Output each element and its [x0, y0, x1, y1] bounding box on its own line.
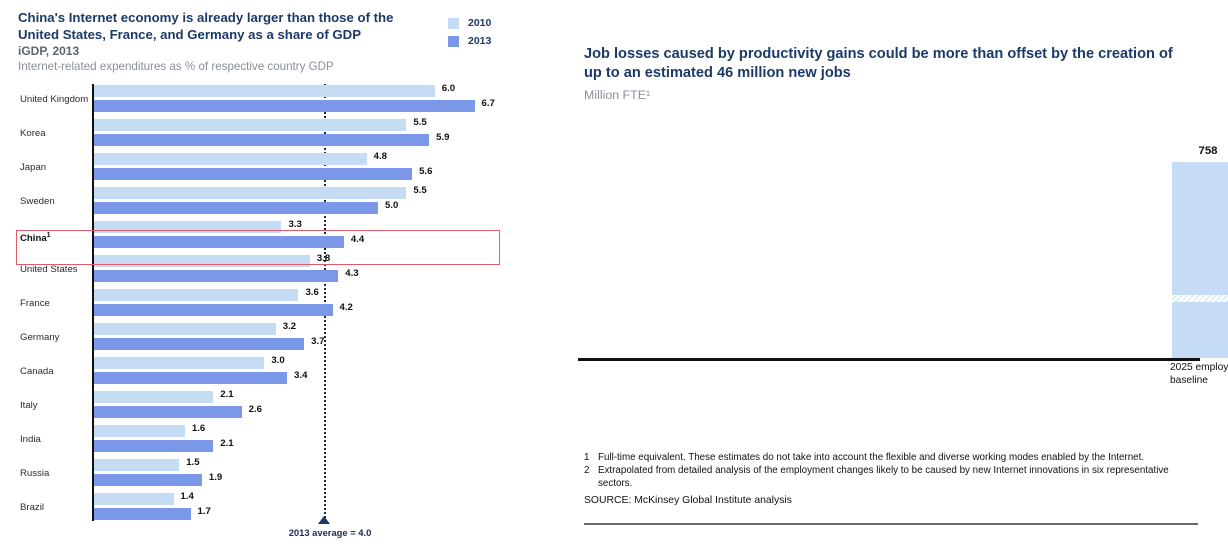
bar-value-label: 5.0 — [385, 200, 398, 211]
legend-label-2010: 2010 — [468, 17, 491, 29]
bar-row-label: United States — [20, 264, 90, 276]
bar-2013 — [94, 168, 412, 180]
bar-value-label: 2.1 — [220, 438, 233, 449]
left-bar-chart-plot: 2013 average = 4.0 United Kingdom6.06.7K… — [0, 84, 540, 524]
bar-2013 — [94, 236, 344, 248]
waterfall-category-label: 2025 employment baseline — [1170, 362, 1228, 387]
bar-2010 — [94, 85, 435, 97]
bar-row: France3.64.2 — [0, 288, 540, 322]
bar-row: India1.62.1 — [0, 424, 540, 458]
legend-item-2010: 2010 — [448, 14, 528, 32]
axis-break-icon — [1172, 295, 1228, 302]
bar-2010 — [94, 221, 281, 233]
bar-value-label: 5.6 — [419, 166, 432, 177]
legend-swatch-2013 — [448, 36, 459, 47]
bar-value-label: 3.4 — [294, 370, 307, 381]
legend-label-2013: 2013 — [468, 35, 491, 47]
bar-2013 — [94, 202, 378, 214]
bar-value-label: 5.5 — [413, 117, 426, 128]
bar-2013 — [94, 406, 242, 418]
bar-2010 — [94, 459, 179, 471]
bar-row-label: France — [20, 298, 90, 310]
bar-row: Japan4.85.6 — [0, 152, 540, 186]
footnote-1: 1 Full-time equivalent. These estimates … — [584, 452, 1198, 464]
bar-2013 — [94, 440, 213, 452]
bar-row: Russia1.51.9 — [0, 458, 540, 492]
bar-row-label: Brazil — [20, 502, 90, 514]
bar-2010 — [94, 391, 213, 403]
bar-value-label: 3.8 — [317, 253, 330, 264]
bar-row: United States3.84.3 — [0, 254, 540, 288]
bar-2013 — [94, 100, 475, 112]
bar-2010 — [94, 119, 406, 131]
bar-value-label: 3.0 — [271, 355, 284, 366]
waterfall-category-labels: 2025 employment baselinePotential job lo… — [570, 362, 1228, 442]
bar-value-label: 2.1 — [220, 389, 233, 400]
bar-2010 — [94, 153, 367, 165]
footnote-2-number: 2 — [584, 465, 589, 477]
bar-2010 — [94, 289, 298, 301]
bar-value-label: 3.2 — [283, 321, 296, 332]
left-chart-axis-caption: Internet-related expenditures as % of re… — [18, 60, 334, 73]
bar-row-label: Korea — [20, 128, 90, 140]
bar-row: Canada3.03.4 — [0, 356, 540, 390]
slide-page: China's Internet economy is already larg… — [0, 0, 1228, 550]
bar-row: United Kingdom6.06.7 — [0, 84, 540, 118]
bar-row: Sweden5.55.0 — [0, 186, 540, 220]
right-chart-panel: Job losses caused by productivity gains … — [570, 0, 1228, 550]
bar-value-label: 1.6 — [192, 423, 205, 434]
bar-2010 — [94, 493, 174, 505]
footnote-1-text: Full-time equivalent. These estimates do… — [598, 452, 1144, 463]
waterfall-baseline-axis — [578, 358, 1200, 361]
bar-2013 — [94, 338, 304, 350]
bar-row-label: China1 — [20, 230, 90, 245]
bar-row-label: Japan — [20, 162, 90, 174]
bar-value-label: 5.5 — [413, 185, 426, 196]
bar-value-label: 1.9 — [209, 472, 222, 483]
bar-2010 — [94, 255, 310, 267]
bar-2013 — [94, 270, 338, 282]
bar-row: Brazil1.41.7 — [0, 492, 540, 526]
bar-2010 — [94, 425, 185, 437]
footnote-2-text: Extrapolated from detailed analysis of t… — [598, 465, 1169, 488]
waterfall-value-label: 758 — [1172, 145, 1228, 157]
left-chart-subtitle: iGDP, 2013 — [18, 44, 79, 58]
bar-2013 — [94, 304, 333, 316]
bar-value-label: 4.4 — [351, 234, 364, 245]
bar-value-label: 1.4 — [181, 491, 194, 502]
bar-2010 — [94, 323, 276, 335]
bar-value-label: 1.7 — [198, 506, 211, 517]
bar-value-label: 4.8 — [374, 151, 387, 162]
bar-row-label: Sweden — [20, 196, 90, 208]
bar-row: Italy2.12.6 — [0, 390, 540, 424]
bar-value-label: 5.9 — [436, 132, 449, 143]
footnotes: 1 Full-time equivalent. These estimates … — [584, 452, 1198, 506]
bar-value-label: 6.7 — [482, 98, 495, 109]
left-chart-legend: 2010 2013 — [448, 14, 528, 50]
legend-item-2013: 2013 — [448, 32, 528, 50]
waterfall-bar — [1172, 162, 1228, 358]
legend-swatch-2010 — [448, 18, 459, 29]
bar-row-label: Canada — [20, 366, 90, 378]
left-chart-panel: China's Internet economy is already larg… — [0, 0, 540, 550]
bar-value-label: 2.6 — [249, 404, 262, 415]
source-line: SOURCE: McKinsey Global Institute analys… — [584, 495, 1198, 506]
average-reference-label: 2013 average = 4.0 — [240, 527, 420, 538]
bar-value-label: 1.5 — [186, 457, 199, 468]
bar-row-label: Russia — [20, 468, 90, 480]
bar-value-label: 3.3 — [288, 219, 301, 230]
bar-2013 — [94, 508, 191, 520]
bar-value-label: 4.3 — [345, 268, 358, 279]
bar-value-label: 4.2 — [340, 302, 353, 313]
left-chart-title: China's Internet economy is already larg… — [18, 10, 438, 43]
footnote-1-number: 1 — [584, 452, 589, 464]
bar-row: Germany3.23.7 — [0, 322, 540, 356]
bar-value-label: 6.0 — [442, 83, 455, 94]
bar-row-label: India — [20, 434, 90, 446]
bar-2013 — [94, 134, 429, 146]
bar-value-label: 3.6 — [305, 287, 318, 298]
footnote-2: 2 Extrapolated from detailed analysis of… — [584, 465, 1198, 490]
bar-row: Korea5.55.9 — [0, 118, 540, 152]
right-chart-subtitle: Million FTE¹ — [584, 88, 650, 102]
waterfall-chart-plot: 75810–316–205–110–15759–773 — [570, 110, 1228, 370]
bar-2013 — [94, 474, 202, 486]
bar-2010 — [94, 357, 264, 369]
bar-row-label: Italy — [20, 400, 90, 412]
bottom-rule — [584, 523, 1198, 525]
right-chart-title: Job losses caused by productivity gains … — [584, 45, 1174, 83]
bar-2010 — [94, 187, 406, 199]
bar-row: China13.34.4 — [0, 220, 540, 254]
bar-row-label: Germany — [20, 332, 90, 344]
bar-value-label: 3.7 — [311, 336, 324, 347]
bar-row-label: United Kingdom — [20, 94, 90, 106]
bar-2013 — [94, 372, 287, 384]
